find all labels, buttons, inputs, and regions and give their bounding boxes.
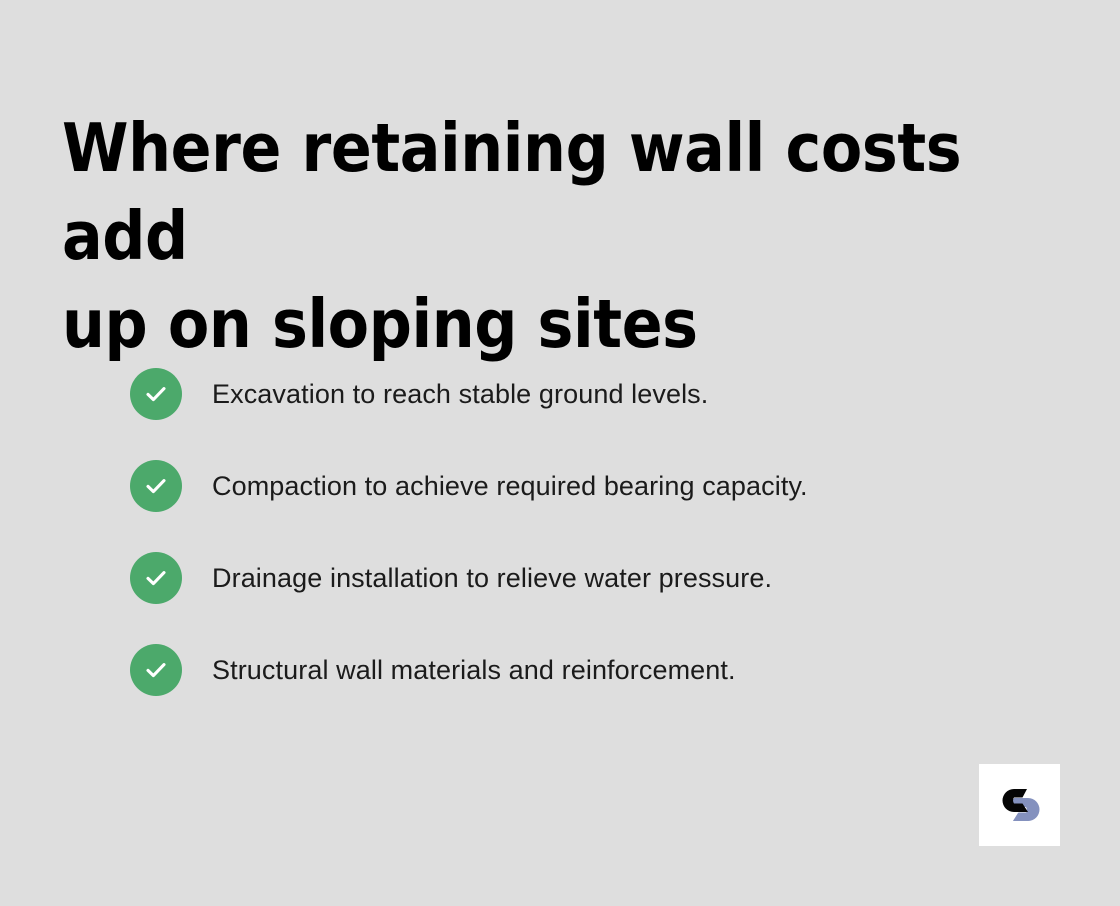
check-circle-icon bbox=[130, 368, 182, 420]
list-item: Excavation to reach stable ground levels… bbox=[130, 368, 1030, 420]
list-item: Structural wall materials and reinforcem… bbox=[130, 644, 1030, 696]
checklist: Excavation to reach stable ground levels… bbox=[130, 368, 1030, 696]
page-title: Where retaining wall costs add up on slo… bbox=[62, 104, 1062, 368]
list-item-label: Excavation to reach stable ground levels… bbox=[212, 377, 708, 411]
brand-logo-icon bbox=[997, 785, 1043, 825]
list-item: Drainage installation to relieve water p… bbox=[130, 552, 1030, 604]
check-circle-icon bbox=[130, 460, 182, 512]
list-item-label: Compaction to achieve required bearing c… bbox=[212, 469, 808, 503]
check-circle-icon bbox=[130, 552, 182, 604]
brand-logo-card bbox=[979, 764, 1060, 846]
list-item-label: Structural wall materials and reinforcem… bbox=[212, 653, 736, 687]
list-item: Compaction to achieve required bearing c… bbox=[130, 460, 1030, 512]
slide-canvas: Where retaining wall costs add up on slo… bbox=[0, 0, 1120, 906]
list-item-label: Drainage installation to relieve water p… bbox=[212, 561, 772, 595]
check-circle-icon bbox=[130, 644, 182, 696]
